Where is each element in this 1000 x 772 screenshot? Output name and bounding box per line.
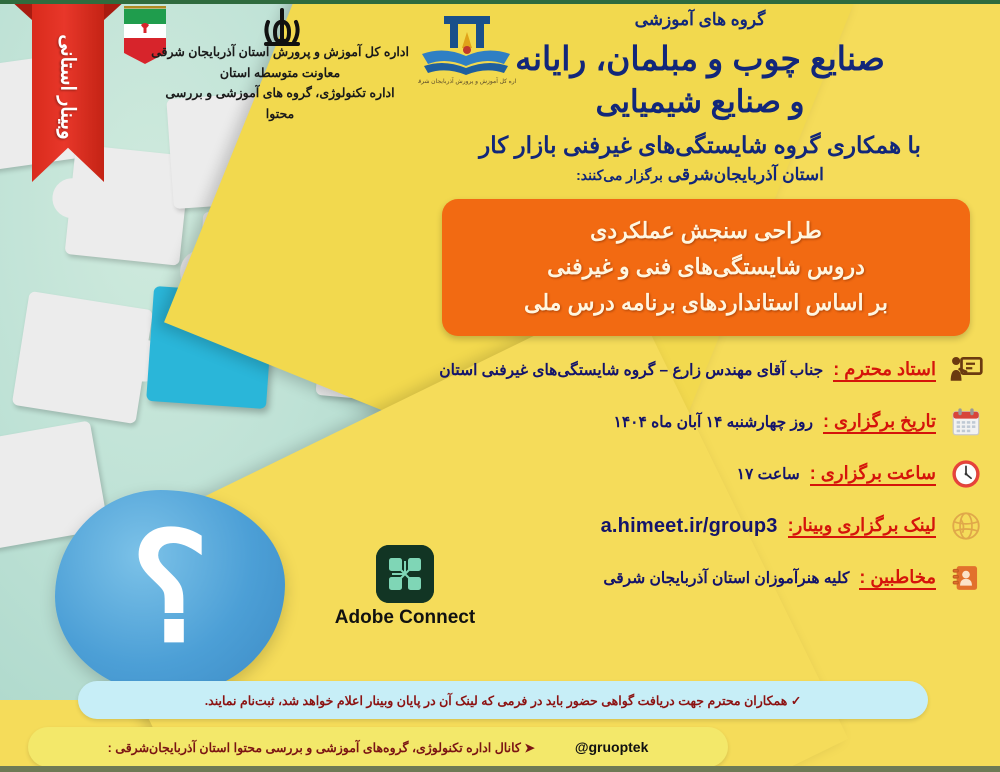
- bottom-edge-strip: [0, 766, 1000, 772]
- clock-icon: [946, 454, 986, 494]
- detail-label-instructor: استاد محترم :: [833, 359, 936, 382]
- certificate-note-body: همکاران محترم جهت دریافت گواهی حضور باید…: [205, 694, 788, 708]
- organizer-verb: برگزار می‌کنند:: [576, 167, 663, 183]
- topic-box: طراحی سنجش عملکردی دروس شایستگی‌های فنی …: [442, 199, 970, 336]
- detail-row-date: تاریخ برگزاری : روز چهارشنبه ۱۴ آبان ماه…: [400, 402, 994, 442]
- adobe-connect-icon: [376, 545, 434, 603]
- org-line-1: اداره کل آموزش و پرورش استان آذربایجان ش…: [150, 42, 410, 63]
- arrow-icon: ➤: [524, 741, 534, 755]
- platform-name: Adobe Connect: [330, 607, 480, 629]
- detail-label-audience: مخاطبین :: [859, 567, 936, 590]
- question-mark-bubble: ؟: [55, 490, 285, 695]
- platform-badge: Adobe Connect: [330, 545, 480, 629]
- certificate-note-text: ✓ همکاران محترم جهت دریافت گواهی حضور با…: [205, 693, 802, 708]
- detail-label-link: لینک برگزاری وبینار:: [788, 515, 936, 538]
- certificate-note: ✓ همکاران محترم جهت دریافت گواهی حضور با…: [78, 681, 928, 719]
- poster-title-line-2: و صنایع شیمیایی: [400, 83, 1000, 120]
- topic-line-1: طراحی سنجش عملکردی: [460, 213, 952, 249]
- poster-canvas: ؟ وبینار استانی اداره کل آموزش و پرورش آ…: [0, 0, 1000, 772]
- question-mark-glyph: ؟: [55, 490, 285, 695]
- channel-note: @gruoptek ➤ کانال اداره تکنولوژی، گروه‌ه…: [28, 727, 728, 767]
- channel-note-text: ➤ کانال اداره تکنولوژی، گروه‌های آموزشی …: [108, 740, 535, 755]
- detail-row-time: ساعت برگزاری : ساعت ۱۷: [400, 454, 994, 494]
- top-edge-strip: [0, 0, 1000, 4]
- calendar-icon: [946, 402, 986, 442]
- organizer-province: استان آذربایجان‌شرقی: [668, 165, 824, 184]
- detail-rows: استاد محترم : جناب آقای مهندس زارع – گرو…: [400, 350, 1000, 598]
- org-line-2: معاونت متوسطه استان: [150, 63, 410, 84]
- topic-line-3: بر اساس استانداردهای برنامه درس ملی: [460, 285, 952, 321]
- organizer-line: استان آذربایجان‌شرقی برگزار می‌کنند:: [400, 165, 1000, 185]
- detail-value-date: روز چهارشنبه ۱۴ آبان ماه ۱۴۰۴: [614, 413, 813, 432]
- poster-subtitle: با همکاری گروه شایستگی‌های غیرفنی بازار …: [400, 132, 1000, 159]
- detail-row-audience: مخاطبین : کلیه هنرآموزان استان آذربایجان…: [400, 558, 994, 598]
- detail-row-link[interactable]: لینک برگزاری وبینار: a.himeet.ir/group3: [400, 506, 994, 546]
- ribbon-label: وبینار استانی: [56, 34, 81, 139]
- globe-icon: [946, 506, 986, 546]
- main-content: گروه های آموزشی صنایع چوب و مبلمان، رایا…: [400, 0, 1000, 680]
- detail-value-instructor: جناب آقای مهندس زارع – گروه شایستگی‌های …: [439, 361, 823, 380]
- contact-book-icon: [946, 558, 986, 598]
- teacher-board-icon: [946, 350, 986, 390]
- topic-line-2: دروس شایستگی‌های فنی و غیرفنی: [460, 249, 952, 285]
- org-line-3: اداره تکنولوژی، گروه های آموزشی و بررسی …: [150, 83, 410, 124]
- detail-value-audience: کلیه هنرآموزان استان آذربایجان شرقی: [603, 569, 849, 588]
- kicker-text: گروه های آموزشی: [400, 10, 1000, 30]
- detail-label-date: تاریخ برگزاری :: [823, 411, 936, 434]
- poster-title-line-1: صنایع چوب و مبلمان، رایانه: [400, 38, 1000, 79]
- telegram-handle[interactable]: @gruoptek: [575, 739, 649, 755]
- detail-label-time: ساعت برگزاری :: [810, 463, 936, 486]
- detail-value-time: ساعت ۱۷: [737, 465, 800, 484]
- webinar-link[interactable]: a.himeet.ir/group3: [601, 515, 778, 538]
- channel-note-body: کانال اداره تکنولوژی، گروه‌های آموزشی و …: [108, 741, 521, 755]
- organization-lines: اداره کل آموزش و پرورش استان آذربایجان ش…: [150, 42, 410, 125]
- check-icon: ✓: [791, 694, 801, 708]
- detail-row-instructor: استاد محترم : جناب آقای مهندس زارع – گرو…: [400, 350, 994, 390]
